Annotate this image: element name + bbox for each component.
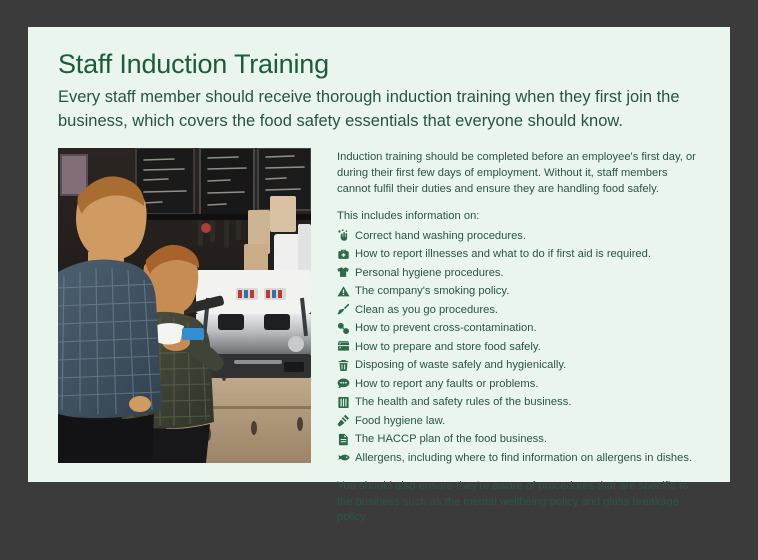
list-item: How to prevent cross-contamination.	[337, 320, 704, 336]
contamination-icon	[337, 320, 355, 336]
slide-viewer: Staff Induction Training Every staff mem…	[0, 0, 758, 560]
list-item-label: The HACCP plan of the food business.	[355, 431, 704, 447]
topics-list: Correct hand washing procedures. How to …	[337, 228, 704, 466]
includes-label: This includes information on:	[337, 210, 704, 222]
list-item-label: How to report any faults or problems.	[355, 376, 704, 392]
list-item: Food hygiene law.	[337, 413, 704, 429]
photo-column	[58, 148, 313, 526]
list-item-label: The company's smoking policy.	[355, 283, 704, 299]
gavel-icon	[337, 413, 355, 429]
list-item-label: The health and safety rules of the busin…	[355, 394, 704, 410]
footer-bar: Page 9 of 18 50% Completed Prev Next	[0, 482, 758, 560]
list-item-label: Food hygiene law.	[355, 413, 704, 429]
broom-icon	[337, 302, 355, 318]
slide-card: Staff Induction Training Every staff mem…	[28, 27, 730, 482]
hands-washing-icon	[337, 228, 355, 244]
book-icon	[337, 394, 355, 410]
list-item: Disposing of waste safely and hygienical…	[337, 357, 704, 373]
list-item-label: How to report illnesses and what to do i…	[355, 246, 704, 262]
list-item-label: Allergens, including where to find infor…	[355, 450, 704, 466]
training-photo	[58, 148, 311, 463]
list-item-label: How to prevent cross-contamination.	[355, 320, 704, 336]
list-item-label: Disposing of waste safely and hygienical…	[355, 357, 704, 373]
list-item: The HACCP plan of the food business.	[337, 431, 704, 447]
list-item-label: Clean as you go procedures.	[355, 302, 704, 318]
trash-bin-icon	[337, 357, 355, 373]
slide-subtitle: Every staff member should receive thorou…	[58, 86, 704, 134]
list-item-label: Personal hygiene procedures.	[355, 265, 704, 281]
list-item-label: Correct hand washing procedures.	[355, 228, 704, 244]
list-item: How to prepare and store food safely.	[337, 339, 704, 355]
fish-allergen-icon	[337, 450, 355, 466]
list-item: Personal hygiene procedures.	[337, 265, 704, 281]
list-item: How to report illnesses and what to do i…	[337, 246, 704, 262]
list-item-label: How to prepare and store food safely.	[355, 339, 704, 355]
list-item: Allergens, including where to find infor…	[337, 450, 704, 466]
list-item: The health and safety rules of the busin…	[337, 394, 704, 410]
slide-columns: Induction training should be completed b…	[58, 148, 704, 526]
warning-triangle-icon	[337, 283, 355, 299]
food-storage-icon	[337, 339, 355, 355]
page-title: Staff Induction Training	[58, 49, 704, 80]
comment-dots-icon	[337, 376, 355, 392]
text-column: Induction training should be completed b…	[313, 148, 704, 526]
list-item: How to report any faults or problems.	[337, 376, 704, 392]
document-icon	[337, 431, 355, 447]
list-item: The company's smoking policy.	[337, 283, 704, 299]
tshirt-icon	[337, 265, 355, 281]
first-aid-kit-icon	[337, 246, 355, 262]
list-item: Clean as you go procedures.	[337, 302, 704, 318]
list-item: Correct hand washing procedures.	[337, 228, 704, 244]
intro-paragraph: Induction training should be completed b…	[337, 150, 704, 198]
